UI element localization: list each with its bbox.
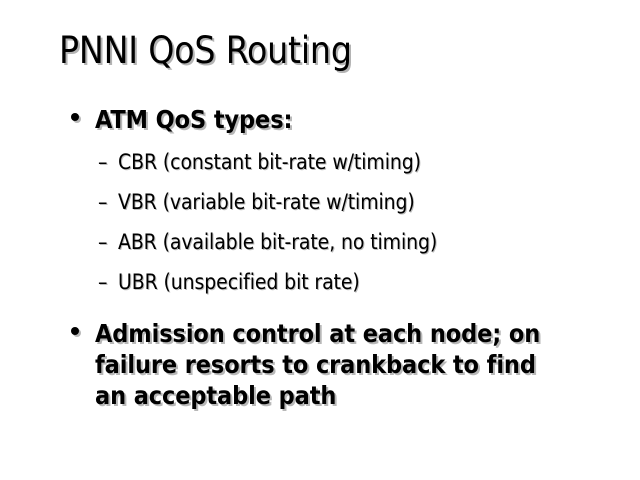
spacer [0,135,640,149]
slide-title: PNNI QoS Routing [59,30,599,72]
bullet-dash-icon: – [98,269,107,295]
bullet-dash-icon: – [98,189,107,215]
bullet-text: ATM QoS types: [95,105,292,134]
sub-bullet-item-abr: – ABR (available bit-rate, no timing) [0,229,640,255]
spacer [0,295,640,318]
presentation-slide: PNNI QoS Routing ATM QoS types: – CBR (c… [0,0,640,480]
bullet-dash-icon: – [98,149,107,175]
sub-bullet-text: VBR (variable bit-rate w/timing) [118,190,415,214]
bullet-dot-icon [71,327,79,335]
sub-bullet-text: UBR (unspecified bit rate) [118,270,360,294]
sub-bullet-text: ABR (available bit-rate, no timing) [118,230,437,254]
slide-body: ATM QoS types: – CBR (constant bit-rate … [0,104,640,411]
sub-bullet-item-vbr: – VBR (variable bit-rate w/timing) [0,189,640,215]
bullet-dash-icon: – [98,229,107,255]
bullet-item-atm-qos-types: ATM QoS types: [0,104,565,135]
spacer [0,215,640,229]
bullet-dot-icon [71,113,79,121]
spacer [0,175,640,189]
bullet-text: Admission control at each node; on failu… [95,319,540,410]
sub-bullet-text: CBR (constant bit-rate w/timing) [118,150,421,174]
sub-bullet-item-ubr: – UBR (unspecified bit rate) [0,269,640,295]
spacer [0,255,640,269]
sub-bullet-item-cbr: – CBR (constant bit-rate w/timing) [0,149,640,175]
bullet-item-admission-control: Admission control at each node; on failu… [0,318,565,411]
